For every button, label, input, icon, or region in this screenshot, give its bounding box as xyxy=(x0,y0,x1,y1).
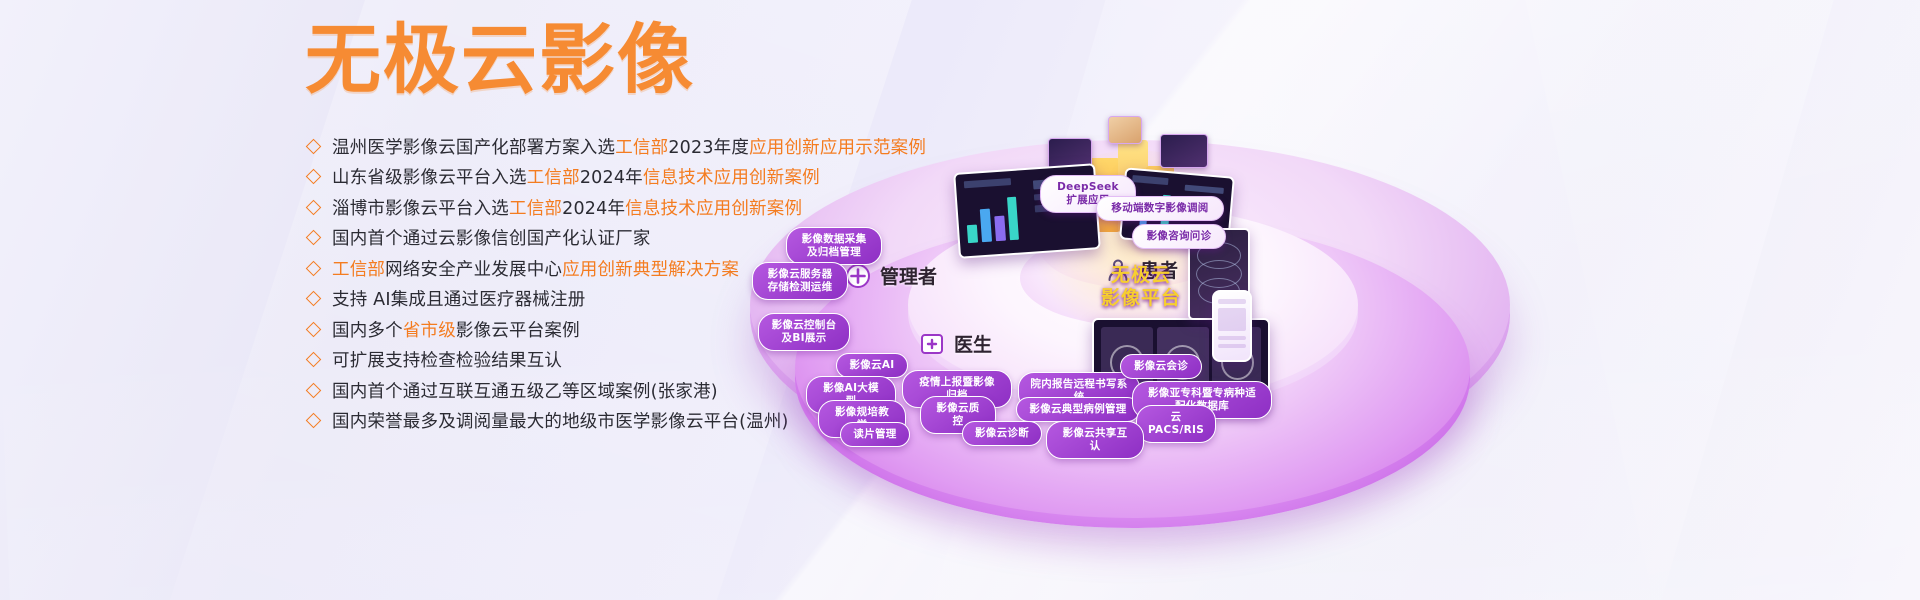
phone-line xyxy=(1218,336,1247,341)
diamond-bullet-icon xyxy=(306,230,322,246)
bullet-text-segment: 国内首个通过互联互通五级乙等区域案例(张家港) xyxy=(332,382,718,402)
bullet-text-segment: 工信部 xyxy=(527,168,580,188)
diamond-bullet-icon xyxy=(306,138,322,154)
tag-chip[interactable]: 影像云共享互认 xyxy=(1046,421,1144,459)
bullet-text-segment: 国内首个通过云影像信创国产化认证厂家 xyxy=(332,229,651,249)
mobile-viewer-mockup xyxy=(1212,290,1252,362)
diamond-bullet-icon xyxy=(306,352,322,368)
tag-chip[interactable]: 云PACS/RIS xyxy=(1136,405,1216,443)
phone-image xyxy=(1218,308,1247,331)
center-label-line1: 无极云 xyxy=(1076,264,1206,287)
bullet-text-segment: 2023年度 xyxy=(668,138,749,158)
feature-bullet-text: 淄博市影像云平台入选工信部2024年信息技术应用创新案例 xyxy=(332,195,802,220)
platform-illustration: 管理者 医生 患者 无极云 影像平台 xyxy=(740,0,1920,600)
feature-bullet-text: 国内首个通过云影像信创国产化认证厂家 xyxy=(332,225,651,250)
tag-chip[interactable]: 影像咨询问诊 xyxy=(1132,224,1226,249)
tag-chip[interactable]: 移动端数字影像调阅 xyxy=(1096,196,1224,221)
role-doctor: 医生 xyxy=(918,330,992,357)
tag-chip[interactable]: 影像云诊断 xyxy=(962,421,1042,446)
diamond-bullet-icon xyxy=(306,291,322,307)
doctor-badge-icon xyxy=(918,330,945,357)
role-label: 医生 xyxy=(954,330,992,357)
bullet-text-segment: 工信部 xyxy=(509,199,562,219)
chart-bar xyxy=(964,178,1011,189)
floating-screen-icon xyxy=(1108,116,1142,144)
chart-bar xyxy=(1007,197,1020,240)
chart-bar xyxy=(967,224,978,243)
feature-bullet-text: 国内多个省市级影像云平台案例 xyxy=(332,317,580,342)
phone-line xyxy=(1218,344,1247,349)
feature-bullet-text: 国内首个通过互联互通五级乙等区域案例(张家港) xyxy=(332,378,718,403)
diamond-bullet-icon xyxy=(306,199,322,215)
diamond-bullet-icon xyxy=(306,382,322,398)
feature-bullet-text: 工信部网络安全产业发展中心应用创新典型解决方案 xyxy=(332,256,739,281)
tag-chip[interactable]: 影像云服务器 存储检测运维 xyxy=(752,262,848,300)
tag-chip[interactable]: 影像云典型病例管理 xyxy=(1016,397,1140,422)
bullet-text-segment: 影像云平台案例 xyxy=(456,321,580,341)
platform-center-label: 无极云 影像平台 xyxy=(1076,264,1206,310)
feature-bullet-text: 支持 AI集成且通过医疗器械注册 xyxy=(332,286,585,311)
role-label: 管理者 xyxy=(880,262,937,289)
bullet-text-segment: 可扩展支持检查检验结果互认 xyxy=(332,351,562,371)
diamond-bullet-icon xyxy=(306,321,322,337)
tag-chip[interactable]: 影像数据采集 及归档管理 xyxy=(786,227,882,265)
chart-bar xyxy=(980,209,992,242)
bullet-text-segment: 工信部 xyxy=(615,138,668,158)
tag-chip[interactable]: 影像云AI xyxy=(836,353,908,378)
floating-screen-icon xyxy=(1160,134,1208,168)
bullet-text-segment: 国内多个 xyxy=(332,321,403,341)
bullet-text-segment: 淄博市影像云平台入选 xyxy=(332,199,509,219)
tag-chip[interactable]: 读片管理 xyxy=(840,422,910,447)
tag-chip[interactable]: 影像云控制台 及BI展示 xyxy=(758,313,850,351)
feature-bullet-text: 可扩展支持检查检验结果互认 xyxy=(332,347,562,372)
phone-line xyxy=(1218,299,1247,304)
bullet-text-segment: 2024年 xyxy=(580,168,643,188)
tag-chip[interactable]: 影像云会诊 xyxy=(1120,354,1202,379)
page-title: 无极云影像 xyxy=(305,22,695,98)
bullet-text-segment: 2024年 xyxy=(562,199,625,219)
hospital-cross-icon xyxy=(844,262,871,289)
diamond-bullet-icon xyxy=(306,413,322,429)
chart-bar xyxy=(994,216,1005,241)
bullet-text-segment: 支持 AI集成且通过医疗器械注册 xyxy=(332,290,585,310)
banner-stage: 无极云影像 温州医学影像云国产化部署方案入选工信部2023年度应用创新应用示范案… xyxy=(0,0,1920,600)
chart-bar xyxy=(1185,184,1224,194)
diamond-bullet-icon xyxy=(306,169,322,185)
bullet-text-segment: 工信部 xyxy=(332,260,385,280)
center-label-line2: 影像平台 xyxy=(1076,287,1206,310)
diamond-bullet-icon xyxy=(306,260,322,276)
bullet-text-segment: 山东省级影像云平台入选 xyxy=(332,168,527,188)
bullet-text-segment: 网络安全产业发展中心 xyxy=(385,260,562,280)
feature-bullet-text: 国内荣誉最多及调阅量最大的地级市医学影像云平台(温州) xyxy=(332,408,789,433)
bullet-text-segment: 应用创新典型解决方案 xyxy=(562,260,739,280)
chart-bar xyxy=(1132,175,1168,184)
bullet-text-segment: 省市级 xyxy=(403,321,456,341)
bullet-text-segment: 温州医学影像云国产化部署方案入选 xyxy=(332,138,615,158)
role-administrator: 管理者 xyxy=(844,262,937,289)
bullet-text-segment: 国内荣誉最多及调阅量最大的地级市医学影像云平台(温州) xyxy=(332,412,789,432)
